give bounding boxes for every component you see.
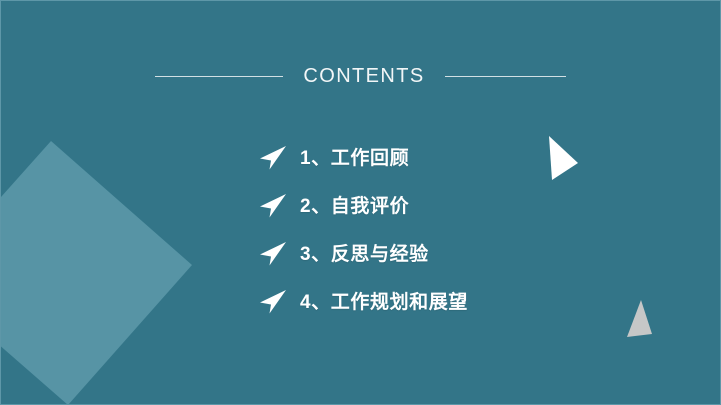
contents-item-2[interactable]: 2、自我评价 xyxy=(258,182,678,230)
diamond-shape xyxy=(0,141,192,405)
slide-canvas: CONTENTS 1、工作回顾 2、自我评价 3、反思与经验 xyxy=(0,0,721,405)
slide-header: CONTENTS xyxy=(0,60,721,92)
send-arrow-icon xyxy=(258,193,288,219)
send-arrow-icon xyxy=(258,145,288,171)
contents-item-1[interactable]: 1、工作回顾 xyxy=(258,134,678,182)
contents-item-3[interactable]: 3、反思与经验 xyxy=(258,230,678,278)
contents-item-label: 4、工作规划和展望 xyxy=(300,293,468,312)
contents-item-4[interactable]: 4、工作规划和展望 xyxy=(258,278,678,326)
contents-item-label: 2、自我评价 xyxy=(300,197,409,216)
page-title: CONTENTS xyxy=(303,66,424,86)
contents-list: 1、工作回顾 2、自我评价 3、反思与经验 4、工作规划和展望 xyxy=(258,134,678,326)
send-arrow-icon xyxy=(258,289,288,315)
header-rule-right xyxy=(445,76,566,77)
header-rule-left xyxy=(155,76,283,77)
send-arrow-icon xyxy=(258,241,288,267)
contents-item-label: 3、反思与经验 xyxy=(300,245,429,264)
contents-item-label: 1、工作回顾 xyxy=(300,149,409,168)
